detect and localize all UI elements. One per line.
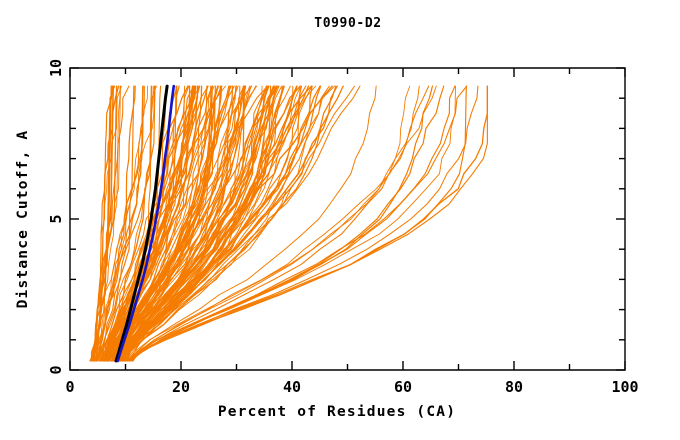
- y-tick-label: 0: [47, 365, 65, 374]
- x-tick-label: 0: [65, 378, 74, 396]
- y-tick-label: 10: [47, 59, 65, 77]
- page-title: T0990-D2: [314, 16, 381, 31]
- x-tick-label: 40: [283, 378, 301, 396]
- chart-figure: T0990-D2 0204060801000510 Percent of Res…: [0, 0, 680, 440]
- prediction-curve: [129, 86, 432, 361]
- x-tick-label: 100: [611, 378, 638, 396]
- y-tick-label: 5: [47, 214, 65, 223]
- chart-canvas: T0990-D2 0204060801000510 Percent of Res…: [0, 0, 680, 440]
- prediction-curve: [128, 86, 455, 361]
- x-tick-label: 80: [505, 378, 523, 396]
- y-axis-label: Distance Cutoff, A: [15, 130, 31, 309]
- prediction-curve: [127, 86, 444, 361]
- x-tick-label: 20: [172, 378, 190, 396]
- prediction-curve: [129, 86, 428, 361]
- x-axis-label: Percent of Residues (CA): [218, 404, 456, 420]
- x-tick-label: 60: [394, 378, 412, 396]
